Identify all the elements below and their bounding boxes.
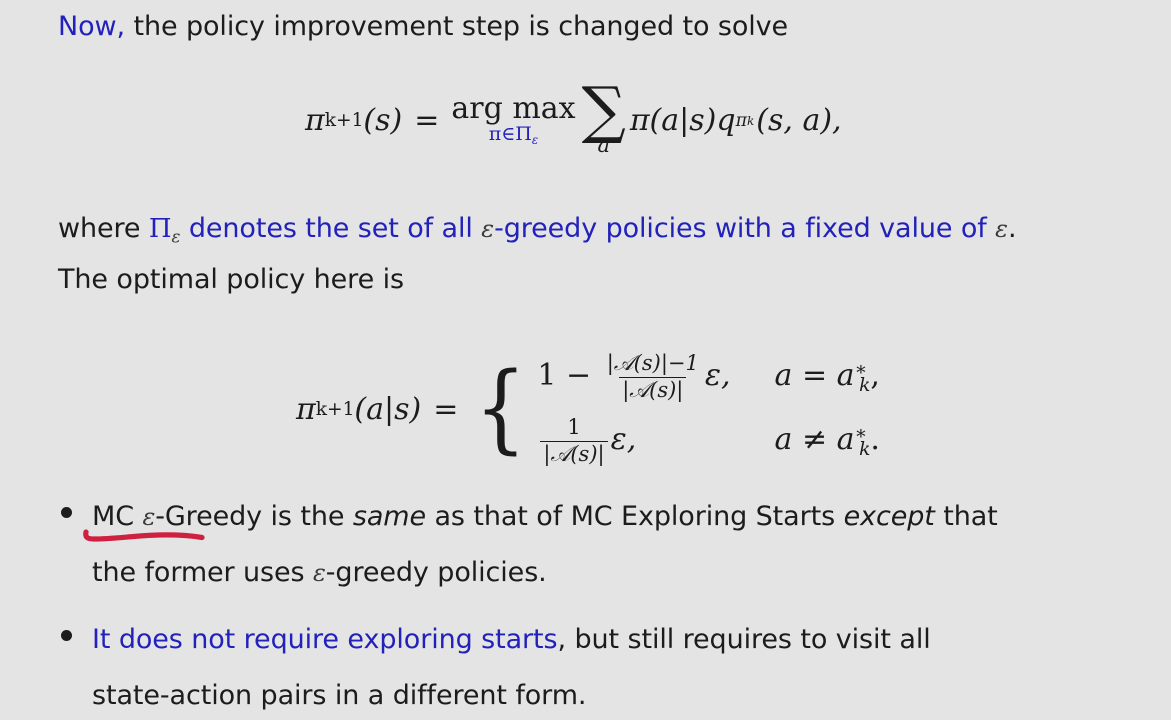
- eq2-case1-epsilon: ε,: [705, 358, 731, 393]
- bullet-1-seg-4: that: [935, 501, 998, 532]
- bullet-2-blue-phrase: It does not require exploring starts: [92, 624, 558, 655]
- eq1-argmax-limit: π∈Π: [489, 123, 532, 145]
- eq2-equals: =: [433, 392, 458, 427]
- eq1-lhs-sub: k+1: [325, 110, 364, 131]
- bullet-1-line2-seg-1: the former uses: [92, 557, 313, 588]
- bullet-2-line-1: It does not require exploring starts, bu…: [92, 617, 931, 662]
- eq2-case1-cond-sub: k: [859, 375, 870, 396]
- bullet-1-line2-seg-2: -greedy policies.: [326, 557, 547, 588]
- eq2-case2-numerator: 1: [564, 416, 583, 441]
- intro-highlight: Now,: [58, 11, 125, 42]
- eq2-case1-expression: 1 − |𝒜(s)|−1 |𝒜(s)| ε,: [537, 352, 730, 402]
- eq2-cases: 1 − |𝒜(s)|−1 |𝒜(s)| ε, a = a∗k, 1 |𝒜(s)|…: [537, 352, 880, 466]
- where-line-2: The optimal policy here is: [58, 257, 404, 302]
- equation-policy-improvement: πk+1(s) = arg max π∈Πε ∑ a π(a|s)qπk(s, …: [305, 86, 842, 155]
- eq2-case2-epsilon: ε,: [611, 422, 637, 457]
- bullet-1-line-1: MC ε-Greedy is the same as that of MC Ex…: [92, 494, 998, 540]
- eq2-lhs-arg: (a|s): [354, 392, 421, 427]
- where-eps-1: ε: [481, 215, 494, 243]
- eq1-body-tail: (s, a),: [756, 103, 841, 138]
- bullet-1-seg-1: MC: [92, 501, 142, 532]
- eq2-case2-expression: 1 |𝒜(s)| ε,: [537, 416, 730, 466]
- eq2-case1-cond-tail: ,: [870, 358, 880, 393]
- eq1-lhs-arg: (s): [363, 103, 402, 138]
- where-eps-2: ε: [995, 215, 1008, 243]
- eq2-case2-condition: a ≠ a∗k.: [775, 422, 880, 460]
- eq1-sum-symbol: ∑: [582, 86, 626, 134]
- bullet-1-line-2: the former uses ε-greedy policies.: [92, 550, 547, 596]
- slide-canvas: Now, the policy improvement step is chan…: [0, 0, 1171, 720]
- where-pi-set: Π: [149, 214, 172, 244]
- eq2-case1-numerator: |𝒜(s)|−1: [604, 352, 702, 377]
- eq1-body: π(a|s)q: [630, 103, 736, 138]
- eq1-body-sub-pi: π: [736, 111, 747, 131]
- eq1-argmax-operator: arg max: [451, 94, 575, 124]
- bullet-1-italic-except: except: [844, 501, 935, 532]
- eq2-brace: {: [475, 379, 527, 439]
- bullet-1-seg-2: -Greedy is the: [155, 501, 353, 532]
- where-blue-b: -greedy policies with a fixed value of: [494, 213, 995, 244]
- eq2-lhs-sub: k+1: [316, 399, 355, 420]
- eq2-case2-cond-sub: k: [859, 439, 870, 460]
- eq1-body-sub-k: k: [747, 114, 754, 128]
- bullet-2-black-phrase: , but still requires to visit all: [558, 624, 931, 655]
- bullet-marker-2: [61, 630, 72, 641]
- eq2-case2-cond-text: a ≠ a: [775, 422, 855, 457]
- eq2-case1-lead: 1 −: [537, 358, 591, 393]
- eq1-equals: =: [414, 103, 439, 138]
- where-lead: where: [58, 213, 149, 244]
- intro-sentence: Now, the policy improvement step is chan…: [58, 4, 788, 49]
- eq1-sum-limit: a: [597, 136, 610, 155]
- eq2-lhs-pi: π: [296, 392, 316, 427]
- where-period: .: [1008, 213, 1016, 244]
- bullet-1-italic-same: same: [353, 501, 426, 532]
- eq2-case2-denominator: |𝒜(s)|: [540, 441, 607, 467]
- where-line-1: where Πε denotes the set of all ε-greedy…: [58, 206, 1016, 259]
- eq2-case1-fraction: |𝒜(s)|−1 |𝒜(s)|: [604, 352, 702, 402]
- equation-optimal-policy: πk+1(a|s) = { 1 − |𝒜(s)|−1 |𝒜(s)| ε, a =…: [296, 352, 880, 466]
- where-blue-a: denotes the set of all: [180, 213, 481, 244]
- bullet-1-epsilon: ε: [142, 503, 155, 531]
- eq2-case1-denominator: |𝒜(s)|: [619, 377, 686, 403]
- eq1-lhs-pi: π: [305, 103, 325, 138]
- eq2-case2-cond-tail: .: [870, 422, 880, 457]
- bullet-marker-1: [61, 507, 72, 518]
- bullet-1-line2-epsilon: ε: [313, 559, 326, 587]
- eq2-case1-cond-text: a = a: [775, 358, 855, 393]
- eq1-argmax-limit-sub: ε: [532, 133, 538, 147]
- intro-rest: the policy improvement step is changed t…: [125, 11, 788, 42]
- bullet-1-seg-3: as that of MC Exploring Starts: [426, 501, 844, 532]
- eq2-case2-fraction: 1 |𝒜(s)|: [540, 416, 607, 466]
- eq2-case1-condition: a = a∗k,: [775, 358, 880, 396]
- bullet-2-line-2: state-action pairs in a different form.: [92, 673, 586, 718]
